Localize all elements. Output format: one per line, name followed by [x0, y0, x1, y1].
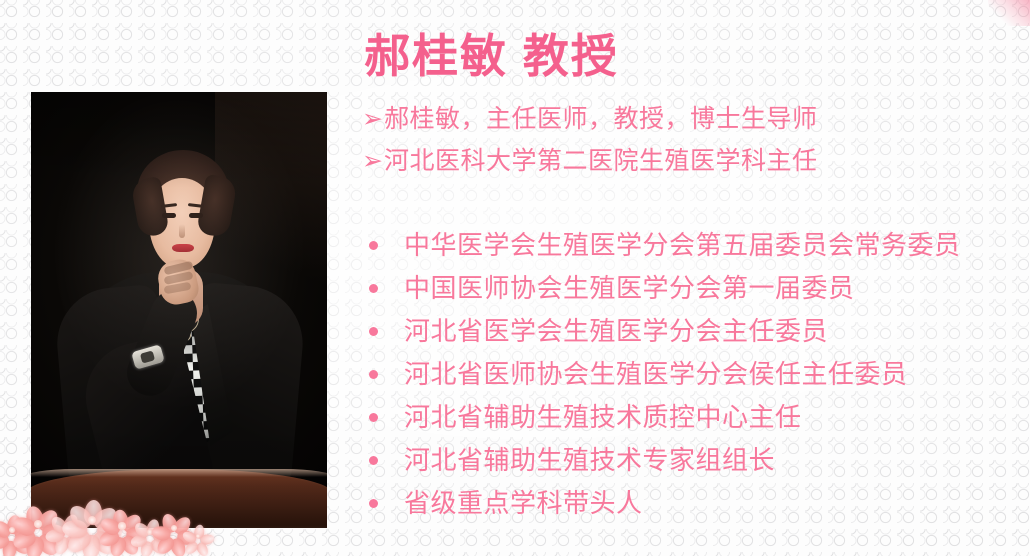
bullet-label: 河北省辅助生殖技术专家组组长	[404, 439, 775, 482]
bullet-label: 河北省辅助生殖技术质控中心主任	[404, 396, 802, 439]
list-item: 中国医师协会生殖医学分会第一届委员	[362, 267, 1022, 310]
list-item: 河北省辅助生殖技术质控中心主任	[362, 396, 1022, 439]
dot-bullet-icon	[362, 310, 404, 353]
bullet-label: 省级重点学科带头人	[404, 482, 643, 525]
bullet-label: 中华医学会生殖医学分会第五届委员会常务委员	[404, 224, 961, 267]
list-item: 河北省辅助生殖技术专家组组长	[362, 439, 1022, 482]
bullet-label: 中国医师协会生殖医学分会第一届委员	[404, 267, 855, 310]
arrow-bullet-icon: ➢	[362, 99, 384, 139]
arrow-bullet-list: ➢ 郝桂敏，主任医师，教授，博士生导师 ➢ 河北医科大学第二医院生殖医学科主任	[362, 99, 1002, 183]
dot-bullet-icon	[362, 439, 404, 482]
photo-color-grade	[31, 92, 327, 528]
list-item: ➢ 河北医科大学第二医院生殖医学科主任	[362, 141, 1002, 183]
list-item: 河北省医师协会生殖医学分会侯任主任委员	[362, 353, 1022, 396]
list-item: 省级重点学科带头人	[362, 482, 1022, 525]
dot-bullet-icon	[362, 353, 404, 396]
dot-bullet-icon	[362, 224, 404, 267]
dot-bullet-icon	[362, 482, 404, 525]
dot-bullet-icon	[362, 396, 404, 439]
bullet-label: 河北省医学会生殖医学分会主任委员	[404, 310, 828, 353]
list-item: ➢ 郝桂敏，主任医师，教授，博士生导师	[362, 99, 1002, 141]
bullet-label: 河北省医师协会生殖医学分会侯任主任委员	[404, 353, 908, 396]
portrait-photo	[31, 92, 327, 528]
list-item: 河北省医学会生殖医学分会主任委员	[362, 310, 1022, 353]
arrow-bullet-icon: ➢	[362, 141, 384, 181]
arrow-bullet-label: 郝桂敏，主任医师，教授，博士生导师	[384, 99, 818, 139]
list-item: 中华医学会生殖医学分会第五届委员会常务委员	[362, 224, 1022, 267]
dot-bullet-icon	[362, 267, 404, 310]
presentation-slide: 郝桂敏 教授 ➢ 郝桂敏，主任医师，教授，博士生导师 ➢ 河北医科大学第二医院生…	[0, 0, 1030, 556]
page-title: 郝桂敏 教授	[364, 20, 619, 86]
credentials-bullet-list: 中华医学会生殖医学分会第五届委员会常务委员 中国医师协会生殖医学分会第一届委员 …	[362, 224, 1022, 525]
arrow-bullet-label: 河北医科大学第二医院生殖医学科主任	[384, 141, 818, 181]
